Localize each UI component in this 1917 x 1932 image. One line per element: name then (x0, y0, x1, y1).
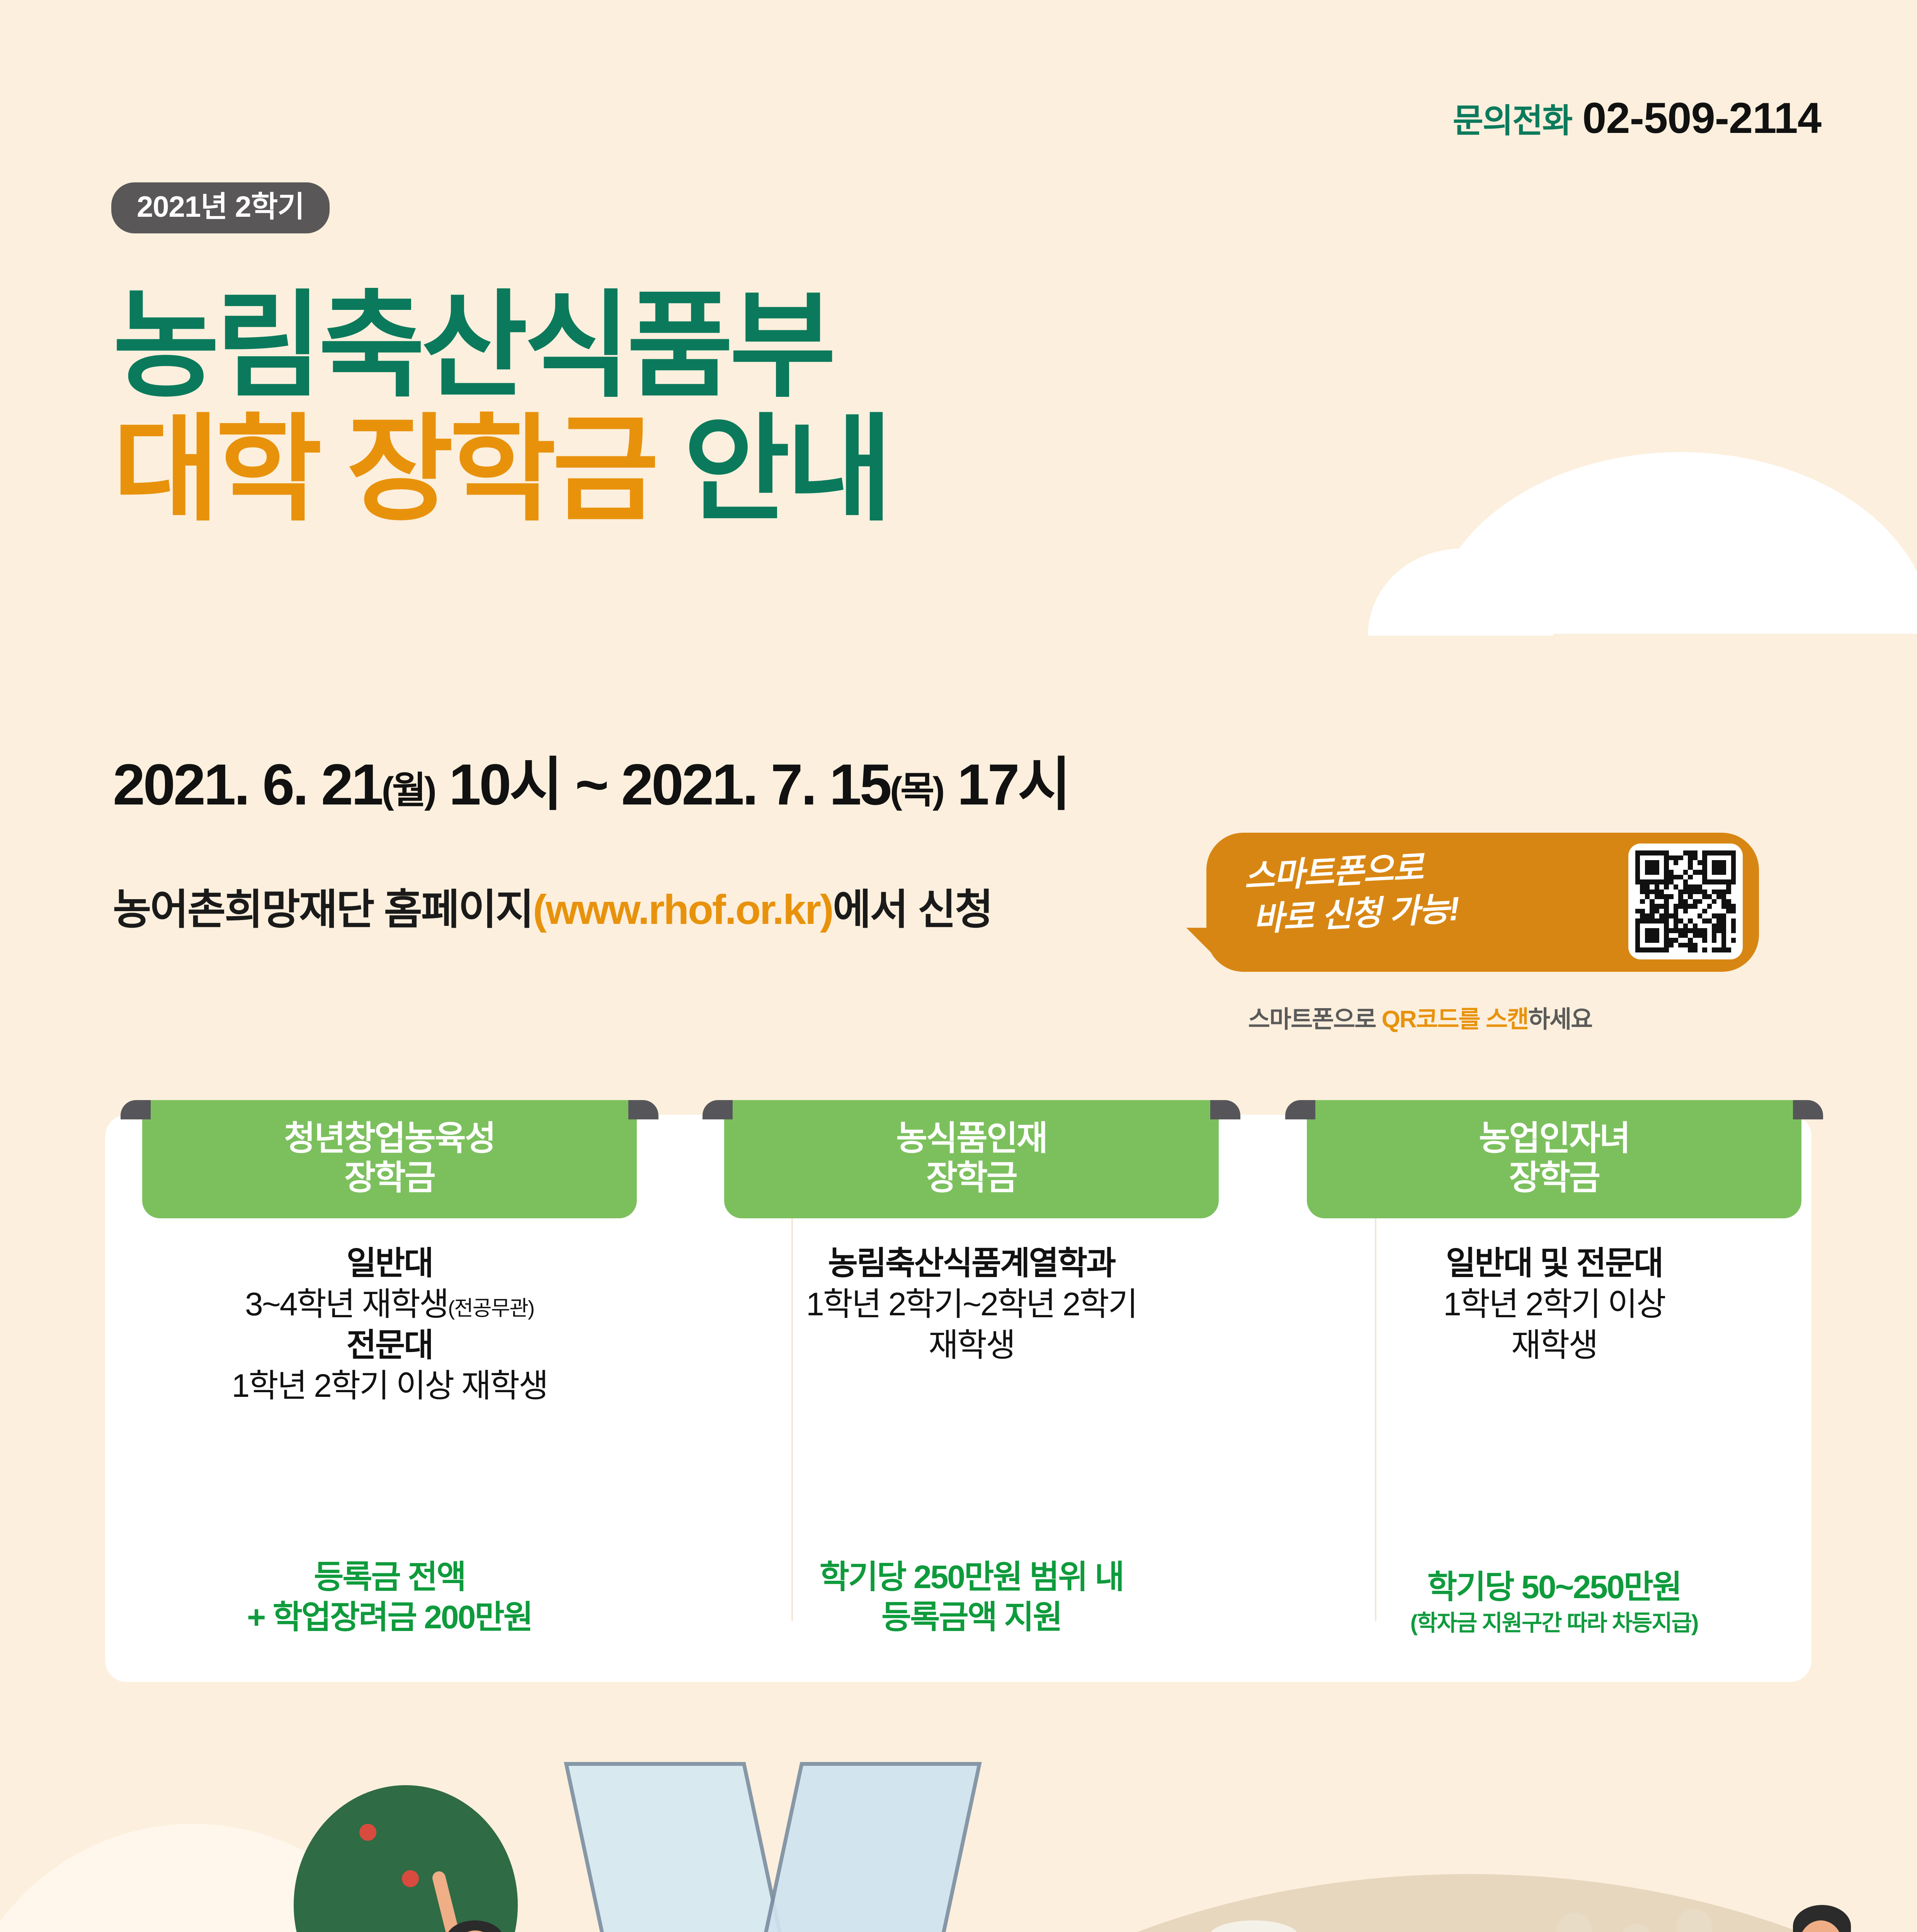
application-site-line: 농어촌희망재단 홈페이지(www.rhof.or.kr)에서 신청 (113, 889, 992, 930)
card-amount: 학기당 50~250만원 (학자금 지원구간 따라 차등지급) (1281, 1567, 1827, 1637)
eligibility-item: 재학생 (703, 1325, 1240, 1366)
site-suffix: 에서 신청 (833, 886, 992, 933)
amount-line-1: 학기당 50~250만원 (1281, 1567, 1827, 1607)
figure-apple-picker (417, 1893, 533, 1932)
farm-illustration (0, 1708, 1917, 1932)
title-line-2-green: 안내 (684, 405, 889, 534)
period-start-time: 10시 (449, 752, 561, 817)
header-tab-right-icon (1793, 1100, 1823, 1119)
bubble-tail-icon (1186, 928, 1221, 963)
scholarship-card[interactable]: 청년창업농육성 장학금 일반대 3~4학년 재학생(전공무관) 전문대 1학년 … (105, 1115, 674, 1682)
qr-caption-prefix: 스마트폰으로 (1248, 1006, 1381, 1033)
site-url[interactable]: (www.rhof.or.kr) (533, 886, 833, 933)
greenhouse-roof-right (738, 1762, 982, 1932)
period-end-date: 2021. 7. 15 (621, 752, 890, 817)
period-start-day: (월) (382, 770, 435, 811)
qr-caption-highlight: QR코드를 스캔 (1381, 1006, 1528, 1033)
card-title-line-1: 청년창업농육성 (142, 1119, 637, 1158)
period-start-date: 2021. 6. 21 (113, 752, 382, 817)
card-title-line-2: 장학금 (1307, 1158, 1801, 1197)
qr-code[interactable] (1628, 844, 1743, 959)
header-tab-left-icon (121, 1100, 151, 1119)
card-eligibility: 일반대 및 전문대 1학년 2학기 이상 재학생 (1285, 1243, 1823, 1366)
qr-caption-suffix: 하세요 (1528, 1006, 1592, 1033)
site-prefix: 농어촌희망재단 홈페이지 (113, 886, 533, 933)
header-tab-right-icon (628, 1100, 658, 1119)
apple-fruit (402, 1870, 419, 1887)
apple-fruit (359, 1824, 376, 1841)
amount-line-1: 학기당 250만원 범위 내 (699, 1557, 1244, 1597)
card-amount: 학기당 250만원 범위 내 등록금액 지원 (699, 1557, 1244, 1637)
qr-bubble-text: 스마트폰으로 바로 신청 가능! (1243, 845, 1494, 940)
title-line-1: 농림축산식품부 (113, 287, 889, 405)
semester-badge: 2021년 2학기 (111, 182, 330, 233)
title-line-2: 대학 장학금 안내 (113, 410, 889, 529)
card-eligibility: 농림축산식품계열학과 1학년 2학기~2학년 2학기 재학생 (703, 1243, 1240, 1366)
eligibility-item: 재학생 (1285, 1325, 1823, 1366)
period-end-time: 17시 (957, 752, 1069, 817)
scholarship-card[interactable]: 농업인자녀 장학금 일반대 및 전문대 1학년 2학기 이상 재학생 학기당 5… (1270, 1115, 1839, 1682)
title-line-2-orange: 대학 장학금 (113, 405, 655, 534)
page-title: 농림축산식품부 대학 장학금 안내 (113, 287, 889, 529)
card-title-line-2: 장학금 (724, 1158, 1219, 1197)
card-title-line-1: 농업인자녀 (1307, 1119, 1801, 1158)
eligibility-item: 농림축산식품계열학과 (703, 1243, 1240, 1284)
card-title-line-1: 농식품인재 (724, 1119, 1219, 1158)
eligibility-item: 일반대 (121, 1243, 658, 1284)
card-header: 청년창업농육성 장학금 (142, 1100, 637, 1218)
amount-line-1: 등록금 전액 (117, 1557, 662, 1597)
application-period: 2021. 6. 21(월) 10시 ~ 2021. 7. 15(목) 17시 (113, 755, 1069, 813)
eligibility-text: 3~4학년 재학생 (245, 1286, 448, 1322)
contact-label: 문의전화 (1453, 102, 1572, 139)
eligibility-item: 3~4학년 재학생(전공무관) (121, 1284, 658, 1325)
poster-root: 문의전화 02-509-2114 2021년 2학기 농림축산식품부 대학 장학… (0, 0, 1917, 1932)
qr-code-grid (1635, 850, 1736, 952)
card-eligibility: 일반대 3~4학년 재학생(전공무관) 전문대 1학년 2학기 이상 재학생 (121, 1243, 658, 1406)
scholarship-card[interactable]: 농식품인재 장학금 농림축산식품계열학과 1학년 2학기~2학년 2학기 재학생… (687, 1115, 1256, 1682)
card-title-line-2: 장학금 (142, 1158, 637, 1197)
amount-line-2: 등록금액 지원 (699, 1597, 1244, 1637)
qr-speech-bubble: 스마트폰으로 바로 신청 가능! (1206, 833, 1759, 972)
qr-bubble-line-1: 스마트폰으로 (1243, 849, 1424, 896)
eligibility-item: 전문대 (121, 1325, 658, 1366)
eligibility-item: 1학년 2학기 이상 (1285, 1284, 1823, 1325)
period-end-day: (목) (890, 770, 943, 811)
eligibility-note: (전공무관) (448, 1297, 534, 1320)
eligibility-item: 1학년 2학기~2학년 2학기 (703, 1284, 1240, 1325)
header-tab-right-icon (1210, 1100, 1240, 1119)
eligibility-item: 1학년 2학기 이상 재학생 (121, 1366, 658, 1406)
header-tab-left-icon (1285, 1100, 1315, 1119)
amount-note: (학자금 지원구간 따라 차등지급) (1281, 1609, 1827, 1637)
card-header: 농업인자녀 장학금 (1307, 1100, 1801, 1218)
card-header: 농식품인재 장학금 (724, 1100, 1219, 1218)
qr-caption: 스마트폰으로 QR코드를 스캔하세요 (1248, 1008, 1592, 1032)
eligibility-item: 일반대 및 전문대 (1285, 1243, 1823, 1284)
card-amount: 등록금 전액 + 학업장려금 200만원 (117, 1557, 662, 1637)
figure-feeder (1778, 1905, 1886, 1932)
greenhouse (553, 1762, 1001, 1932)
contact-line: 문의전화 02-509-2114 (1453, 97, 1821, 140)
amount-line-2: + 학업장려금 200만원 (117, 1597, 662, 1637)
header-tab-left-icon (703, 1100, 733, 1119)
figure-seed-sower (1202, 1924, 1318, 1932)
contact-number: 02-509-2114 (1582, 94, 1821, 142)
qr-bubble-line-2: 바로 신청 가능! (1252, 888, 1494, 940)
